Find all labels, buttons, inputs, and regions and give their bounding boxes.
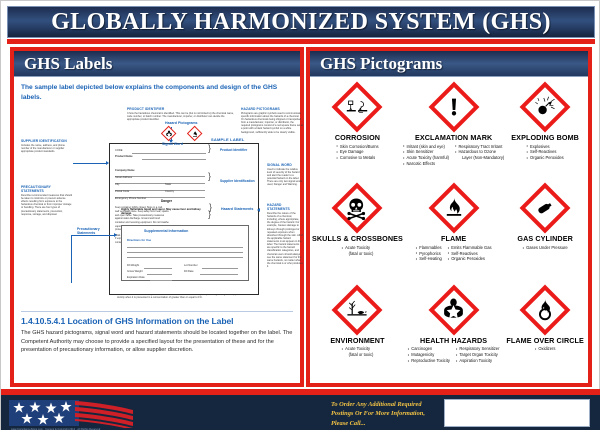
poster-footer: www.ComplianceSigns.com · Content & Copy… (1, 389, 600, 430)
bullets-right: Respiratory Sensitizer Target Organ Toxi… (456, 346, 500, 363)
field-city: City (115, 183, 119, 186)
order-contact-box[interactable] (444, 399, 590, 427)
exploding-bomb-icon (518, 80, 572, 134)
hazard-statement-sample: Highly flammable liquid and vapor. May c… (121, 208, 207, 216)
bullet-item: Oxidizers (535, 346, 556, 352)
pictogram-mark-health-hazards (427, 283, 481, 337)
environment-icon (330, 283, 384, 337)
directions-label: Directions for Use (127, 238, 151, 242)
pictogram-grid: CORROSION Skin Corrosion/Burns Eye Damag… (312, 78, 586, 382)
location-section-heading: 1.4.10.5.4.1 Location of GHS Information… (21, 316, 293, 326)
pictogram-name: FLAME (441, 234, 466, 243)
pictogram-mark-flame-over-circle (518, 283, 572, 337)
bullets-left: Gases Under Pressure (523, 245, 568, 251)
flame-icon (427, 181, 481, 235)
pictogram-name: SKULLS & CROSSBONES (312, 234, 403, 243)
ghs-pictograms-body: CORROSION Skin Corrosion/Burns Eye Damag… (310, 77, 588, 383)
bullets-left: Skin Corrosion/Burns Eye Damage Corrosiv… (336, 144, 378, 161)
location-section-paragraph: The GHS hazard pictograms, signal word a… (21, 329, 293, 355)
supp-line-2 (127, 252, 243, 253)
field-state: State (165, 183, 171, 186)
bullets-right: Respiratory Tract Irritant Hazardous to … (455, 144, 504, 167)
callout-signal-word: Signal Word (162, 142, 183, 146)
bullet-item: Reproductive Toxicity (408, 358, 450, 364)
ghs-pictograms-panel: GHS Pictograms (306, 47, 592, 387)
pictogram-cell-health-hazards: HEALTH HAZARDS Carcinogen Mutagenicity R… (403, 281, 504, 382)
bullet-item: Self-Heating (416, 256, 442, 262)
footer-red-line (1, 389, 600, 395)
bullets-left: Flammables Pyrophorics Self-Heating (416, 245, 442, 262)
pictogram-mark-flame (427, 181, 481, 235)
pictogram-cell-flame-over-circle: FLAME OVER CIRCLE Oxidizers (504, 281, 586, 382)
field-lot-number: Lot Number (184, 264, 198, 267)
poster-title: GLOBALLY HARMONIZED SYSTEM (GHS) (51, 9, 551, 36)
field-line-product-name (142, 159, 206, 160)
pictogram-name: EXPLODING BOMB (511, 133, 579, 142)
bullet-item: (fatal or toxic) (342, 251, 374, 257)
ghs-labels-body: The sample label depicted below explains… (14, 77, 300, 383)
flame-icon (186, 125, 203, 142)
field-fill-date: Fill Date (184, 270, 194, 273)
ghs-pictograms-header: GHS Pictograms (310, 51, 588, 77)
bullets-left: Irritant (skin and eye) Skin Sensitizer … (403, 144, 449, 167)
field-fill-weight: Fill Weight (127, 264, 139, 267)
pictogram-mark-gas-cylinder (518, 181, 572, 235)
field-postal-code: Postal Code (115, 190, 129, 193)
field-product-name: Product Name (115, 155, 133, 158)
pictogram-name: GAS CYLINDER (517, 234, 573, 243)
pictogram-bullets: Skin Corrosion/Burns Eye Damage Corrosiv… (312, 144, 403, 161)
pictogram-cell-flame: FLAME Flammables Pyrophorics Self-Heatin… (403, 179, 504, 280)
field-gross-weight: Gross Weight (127, 270, 143, 273)
pictogram-cell-gas-cylinder: GAS CYLINDER Gases Under Pressure (504, 179, 586, 280)
bullets-left: Acute Toxicity (fatal or toxic) (342, 245, 374, 257)
field-expiration-date: Expiration Date (127, 276, 145, 279)
bullet-item: Organic Peroxides (448, 256, 492, 262)
note-product-identifier: PRODUCT IDENTIFIER It how the hazardous … (127, 107, 235, 121)
arrow-precautionary (114, 233, 117, 237)
bullet-item: Narcotic Effects (403, 161, 449, 167)
brace-product-identifier: } (208, 144, 211, 153)
pictogram-mark-exclamation-mark (427, 80, 481, 134)
supp-line-exp (150, 280, 172, 281)
pictogram-bullets: Explosives Self-Reactives Organic Peroxi… (504, 144, 586, 161)
bullets-left: Acute Toxicity (fatal or toxic) (342, 346, 374, 358)
bullets-left: Explosives Self-Reactives Organic Peroxi… (527, 144, 564, 161)
field-line-city (115, 183, 205, 184)
field-emergency-phone: Emergency Phone Number (115, 197, 146, 200)
supp-line-3 (127, 257, 243, 258)
ghs-poster: GLOBALLY HARMONIZED SYSTEM (GHS) GHS Lab… (0, 0, 600, 430)
bullet-item: Layer (Non-Mandatory) (455, 155, 504, 161)
pictogram-cell-exploding-bomb: EXPLODING BOMB Explosives Self-Reactives… (504, 78, 586, 179)
pictogram-bullets: Oxidizers (504, 346, 586, 352)
signal-word-value: Danger (161, 199, 172, 203)
health-hazard-icon (160, 125, 177, 142)
callout-supplier-identification: Supplier Identification (220, 180, 255, 184)
mini-pictogram-flame (186, 125, 203, 142)
health-hazard-icon (427, 283, 481, 337)
bullet-item: Corrosive to Metals (336, 155, 378, 161)
bullet-item: (fatal or toxic) (342, 352, 374, 358)
pictogram-bullets: Irritant (skin and eye) Skin Sensitizer … (403, 144, 504, 167)
pictogram-name: EXCLAMATION MARK (415, 133, 492, 142)
pictogram-cell-environment: ENVIRONMENT Acute Toxicity (fatal or tox… (312, 281, 403, 382)
skull-crossbones-icon (330, 181, 384, 235)
flame-over-circle-icon (518, 283, 572, 337)
pictogram-name: CORROSION (335, 133, 380, 142)
pictogram-name: HEALTH HAZARDS (420, 336, 487, 345)
pictogram-bullets: Acute Toxicity (fatal or toxic) (312, 346, 403, 358)
brace-supplier: } (208, 172, 211, 181)
bullets-right: Emits Flammable Gas Self-Reactives Organ… (448, 245, 492, 262)
supplemental-title: Supplemental Information (144, 229, 188, 233)
supp-line-1 (127, 247, 243, 248)
bullet-item: Gases Under Pressure (523, 245, 568, 251)
ghs-labels-title: GHS Labels (24, 54, 112, 74)
pictogram-name: FLAME OVER CIRCLE (506, 336, 584, 345)
pictogram-mark-exploding-bomb (518, 80, 572, 134)
note-hazard-statements: HAZARD STATEMENTS Describe the nature of… (267, 203, 303, 268)
note-supplier-identification: SUPPLIER IDENTIFICATION Includes the nam… (21, 139, 73, 153)
section-divider (21, 311, 293, 312)
sample-label-diagram: PRODUCT IDENTIFIER It how the hazardous … (21, 107, 293, 307)
field-company-name: Company Name (115, 169, 135, 172)
field-code: CODE (115, 149, 123, 152)
connector-supplier (73, 163, 107, 164)
note-signal-word: SIGNAL WORD Used to indicate the relativ… (267, 163, 303, 186)
callout-product-identifier: Product Identifier (220, 149, 247, 153)
field-line-code (132, 153, 206, 154)
supp-line-lot (202, 268, 238, 269)
pictogram-cell-corrosion: CORROSION Skin Corrosion/Burns Eye Damag… (312, 78, 403, 179)
bullet-item: Organic Peroxides (527, 155, 564, 161)
gas-cylinder-icon (518, 181, 572, 235)
pictogram-mark-corrosion (330, 80, 384, 134)
pictogram-cell-skulls-crossbones: SKULLS & CROSSBONES Acute Toxicity (fata… (312, 179, 403, 280)
pictogram-name: ENVIRONMENT (330, 336, 384, 345)
connector-precautionary (71, 235, 72, 283)
pictogram-bullets: Carcinogen Mutagenicity Reproductive Tox… (403, 346, 504, 363)
mini-pictogram-health (160, 125, 177, 142)
pictogram-cell-exclamation-mark: EXCLAMATION MARK Irritant (skin and eye)… (403, 78, 504, 179)
order-instructions-text: To Order Any Additional Required Posting… (331, 400, 441, 428)
labels-intro-text: The sample label depicted below explains… (21, 83, 293, 102)
ghs-labels-header: GHS Labels (14, 51, 300, 77)
supp-line-gross (147, 274, 172, 275)
ghs-pictograms-title: GHS Pictograms (320, 54, 442, 74)
exclamation-mark-icon (427, 80, 481, 134)
poster-title-banner: GLOBALLY HARMONIZED SYSTEM (GHS) (7, 6, 595, 38)
note-hazard-pictograms: HAZARD PICTOGRAMS Pictograms are graphic… (241, 107, 303, 134)
bullet-item: Aspiration Toxicity (456, 358, 500, 364)
supp-line-fill-date (200, 274, 238, 275)
callout-precautionary-statements: Precautionary Statements (77, 227, 111, 235)
supp-line-fill-weight (144, 268, 172, 269)
sample-label-caption: SAMPLE LABEL (211, 137, 245, 142)
title-red-underbar (7, 39, 595, 44)
arrow-hazard-statements (257, 208, 260, 212)
pictogram-mark-skulls-crossbones (330, 181, 384, 235)
connector-precautionary-h (71, 235, 115, 236)
field-street-address: Street Address (115, 176, 132, 179)
bullets-left: Carcinogen Mutagenicity Reproductive Tox… (408, 346, 450, 363)
brace-hazard-statements: } (209, 203, 212, 212)
corrosion-icon (330, 80, 384, 134)
bullets-left: Oxidizers (535, 346, 556, 352)
pictogram-bullets: Acute Toxicity (fatal or toxic) (312, 245, 403, 257)
pictogram-bullets: Gases Under Pressure (504, 245, 586, 251)
note-precautionary-statements: PRECAUTIONARY STATEMENTS Describe recomm… (21, 185, 73, 216)
pictogram-bullets: Flammables Pyrophorics Self-Heating Emit… (403, 245, 504, 262)
ghs-labels-panel: GHS Labels The sample label depicted bel… (10, 47, 304, 387)
pictogram-mark-environment (330, 283, 384, 337)
supplemental-info-box: Supplemental Information Directions for … (121, 225, 249, 281)
us-flag-graphic (9, 398, 137, 428)
callout-hazard-statements: Hazard Statements (221, 207, 253, 211)
field-country: Country (165, 190, 174, 193)
